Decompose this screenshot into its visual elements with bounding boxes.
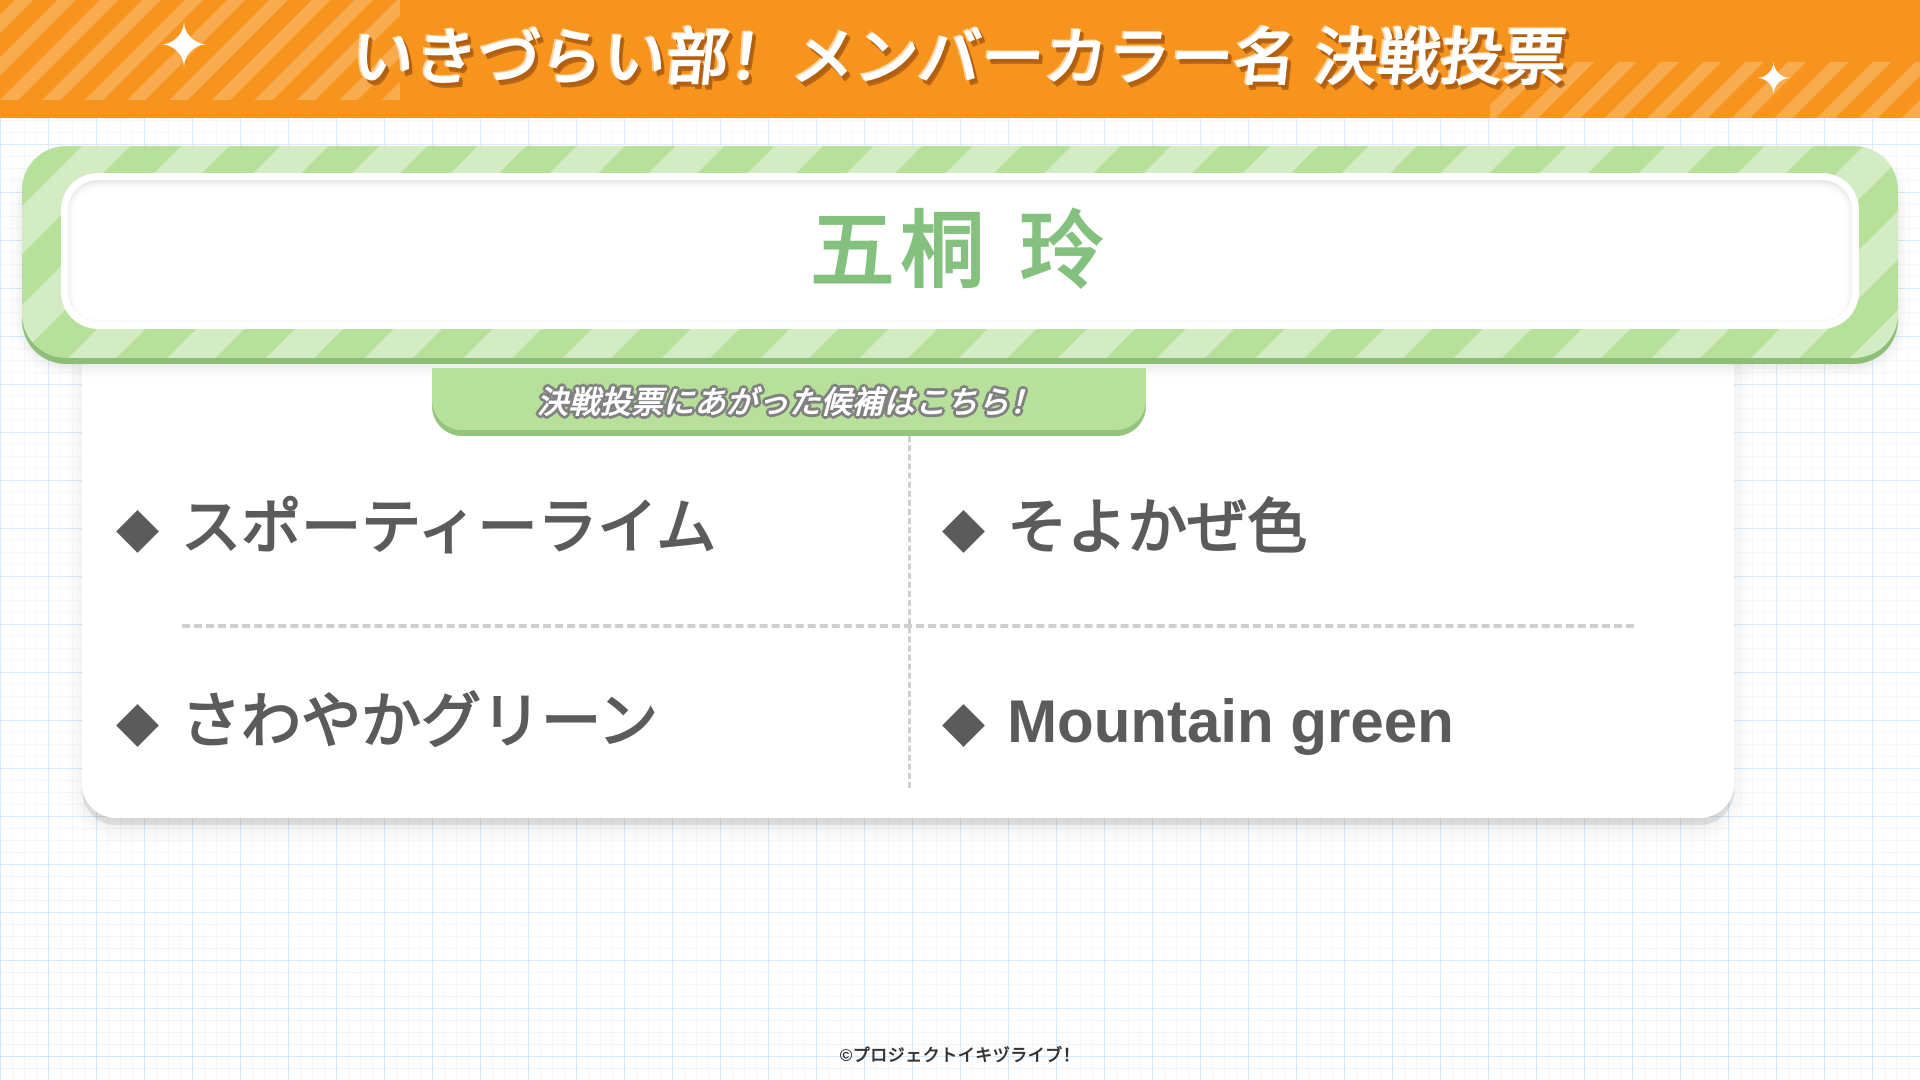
header-band: ✦ ✦ いきづらい部！メンバーカラー名 決戦投票 [0, 0, 1920, 118]
candidate-label: Mountain green [1007, 690, 1454, 753]
candidate-label: スポーティーライム [181, 496, 716, 559]
member-name-plate: 五桐 玲 [68, 180, 1852, 322]
candidate-option-4[interactable]: ◆ Mountain green [908, 624, 1734, 818]
row-divider [182, 624, 1634, 628]
candidate-label: さわやかグリーン [181, 690, 658, 753]
member-name-card: 五桐 玲 [22, 146, 1898, 358]
candidates-banner: 決戦投票にあがった候補はこちら！ [432, 368, 1146, 430]
header-title-wrap: いきづらい部！メンバーカラー名 決戦投票 [0, 0, 1920, 118]
diamond-bullet-icon: ◆ [116, 499, 159, 555]
column-divider [908, 418, 911, 788]
diamond-bullet-icon: ◆ [942, 693, 985, 749]
member-name: 五桐 玲 [810, 209, 1109, 293]
copyright-text: ©プロジェクトイキヅライブ！ [840, 1046, 1081, 1065]
candidate-label: そよかぜ色 [1007, 496, 1307, 559]
candidates-banner-label: 決戦投票にあがった候補はこちら！ [537, 377, 1041, 422]
page-root: ✦ ✦ いきづらい部！メンバーカラー名 決戦投票 五桐 玲 ◆ スポーティーライ… [0, 0, 1920, 1080]
diamond-bullet-icon: ◆ [942, 499, 985, 555]
footer: ©プロジェクトイキヅライブ！ [0, 1041, 1920, 1066]
candidate-option-3[interactable]: ◆ さわやかグリーン [82, 624, 908, 818]
diamond-bullet-icon: ◆ [116, 693, 159, 749]
candidate-option-1[interactable]: ◆ スポーティーライム [82, 430, 908, 624]
candidate-option-2[interactable]: ◆ そよかぜ色 [908, 430, 1734, 624]
page-title: いきづらい部！メンバーカラー名 決戦投票 [349, 28, 1571, 90]
